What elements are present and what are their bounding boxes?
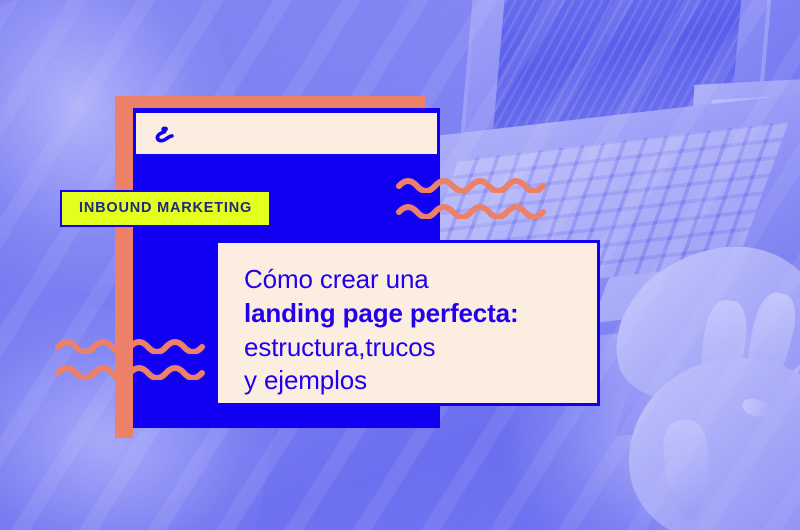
title-line-1: Cómo crear una bbox=[244, 263, 597, 297]
title-line-2: landing page perfecta: bbox=[244, 297, 597, 331]
wave-line-icon bbox=[396, 175, 546, 193]
category-badge[interactable]: INBOUND MARKETING bbox=[60, 190, 271, 227]
banner-canvas: INBOUND MARKETING Cómo crear una landing… bbox=[0, 0, 800, 530]
search-bar[interactable] bbox=[133, 110, 440, 157]
wavy-lines-right bbox=[396, 175, 546, 219]
coral-frame-left-bar bbox=[115, 96, 133, 438]
title-line-4: y ejemplos bbox=[244, 364, 597, 398]
wave-line-icon bbox=[396, 201, 546, 219]
wavy-lines-left bbox=[55, 336, 205, 380]
wave-line-icon bbox=[55, 336, 205, 354]
title-card: Cómo crear una landing page perfecta: es… bbox=[215, 240, 600, 406]
person-cursive-icon bbox=[150, 120, 178, 148]
category-badge-label: INBOUND MARKETING bbox=[79, 200, 252, 216]
title-line-3: estructura,trucos bbox=[244, 331, 597, 365]
wave-line-icon bbox=[55, 362, 205, 380]
